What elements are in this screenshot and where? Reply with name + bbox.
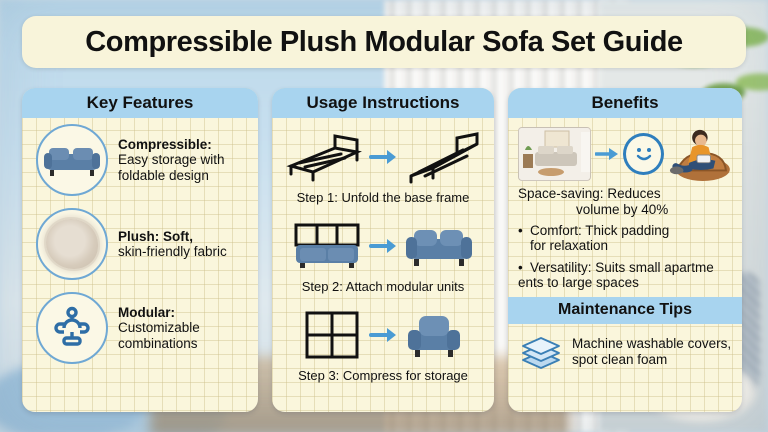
maintenance-line2: spot clean foam [572,352,667,367]
step-artwork [280,306,486,364]
benefit-line1: Versatility: Suits small apartme [530,260,714,275]
feature-desc-line1: skin-friendly fabric [118,244,227,259]
maintenance-tips-header: Maintenance Tips [508,297,742,324]
compressed-armchair-icon [403,308,465,362]
benefits-header-label: Benefits [591,93,658,113]
maintenance-line1: Machine washable covers, [572,336,731,351]
maintenance-tips-row: Machine washable covers, spot clean foam [508,324,742,372]
key-features-header-label: Key Features [87,93,194,113]
infographic-canvas: Compressible Plush Modular Sofa Set Guid… [0,0,768,432]
feature-desc-line1: Easy storage with [118,152,225,167]
benefits-text-block: Space-saving: Reduces volume by 40% • Co… [508,184,742,291]
living-room-glyph [519,128,591,180]
feature-title: Compressible: [118,137,212,152]
arrow-right-icon [369,326,397,344]
key-features-header: Key Features [22,88,258,118]
maintenance-tips-text: Machine washable covers, spot clean foam [572,336,731,367]
title-banner: Compressible Plush Modular Sofa Set Guid… [22,16,746,68]
usage-instructions-header: Usage Instructions [272,88,494,118]
unfolded-bed-frame-icon [403,130,481,184]
modular-units-icon [291,221,363,271]
blue-sofa-icon [36,124,108,196]
feature-text: Compressible: Easy storage with foldable… [118,137,225,182]
feature-title: Modular: [118,305,175,320]
feature-row: Compressible: Easy storage with foldable… [22,118,258,202]
blue-sofa-glyph [42,140,102,180]
key-features-card: Key Features Compressible: [22,88,258,412]
feature-row: Plush: Soft, skin-friendly fabric [22,202,258,286]
assembled-sofa-icon [403,221,475,271]
empty-frame-icon [301,308,363,362]
stacked-cloth-icon [518,332,564,372]
key-features-body: Compressible: Easy storage with foldable… [22,118,258,370]
feature-desc-line2: foldable design [118,168,209,183]
usage-instructions-header-label: Usage Instructions [306,93,459,113]
benefit-list-item: • Versatility: Suits small apartme ents … [518,260,734,291]
arrow-right-icon [369,148,397,166]
step-caption: Step 1: Unfold the base frame [280,190,486,205]
modular-connector-glyph [49,305,95,351]
benefit-list-item: • Comfort: Thick padding for relaxation [518,223,734,254]
benefits-lead-value-2: volume by 40% [518,202,734,218]
folded-bed-frame-icon [285,130,363,184]
living-room-icon [518,127,591,181]
page-title: Compressible Plush Modular Sofa Set Guid… [85,26,683,59]
person-on-beanbag-icon [668,125,732,183]
feature-title: Plush: Soft, [118,229,193,244]
plush-fabric-icon [36,208,108,280]
benefit-line2: ents to large spaces [518,275,734,290]
benefits-lead-value-1: Reduces [607,186,660,201]
benefits-header: Benefits [508,88,742,118]
usage-step: Step 3: Compress for storage [272,296,494,385]
plush-fabric-glyph [46,219,98,269]
bullet-icon: • [518,260,523,275]
step-caption: Step 3: Compress for storage [280,368,486,383]
modular-connector-icon [36,292,108,364]
arrow-right-icon [369,237,397,255]
usage-step: Step 2: Attach modular units [272,207,494,296]
benefits-body: Space-saving: Reduces volume by 40% • Co… [508,118,742,372]
feature-desc-line2: combinations [118,336,198,351]
usage-instructions-body: Step 1: Unfold the base frame [272,118,494,385]
benefits-lead-label: Space-saving: [518,186,604,201]
arrow-right-icon [595,146,619,162]
step-caption: Step 2: Attach modular units [280,279,486,294]
usage-step: Step 1: Unfold the base frame [272,118,494,207]
feature-text: Plush: Soft, skin-friendly fabric [118,229,227,259]
smiley-glyph [631,143,657,165]
benefits-card: Benefits [508,88,742,412]
benefits-artwork [508,118,742,184]
smiley-face-icon [623,133,664,175]
benefits-lead: Space-saving: Reduces volume by 40% [518,186,734,217]
usage-instructions-card: Usage Instructions [272,88,494,412]
maintenance-tips-header-label: Maintenance Tips [558,301,692,319]
benefit-line2: for relaxation [530,238,734,253]
benefit-line1: Comfort: Thick padding [530,223,669,238]
feature-desc-line1: Customizable [118,320,200,335]
feature-text: Modular: Customizable combinations [118,305,200,350]
step-artwork [280,217,486,275]
step-artwork [280,128,486,186]
feature-row: Modular: Customizable combinations [22,286,258,370]
bullet-icon: • [518,223,523,238]
